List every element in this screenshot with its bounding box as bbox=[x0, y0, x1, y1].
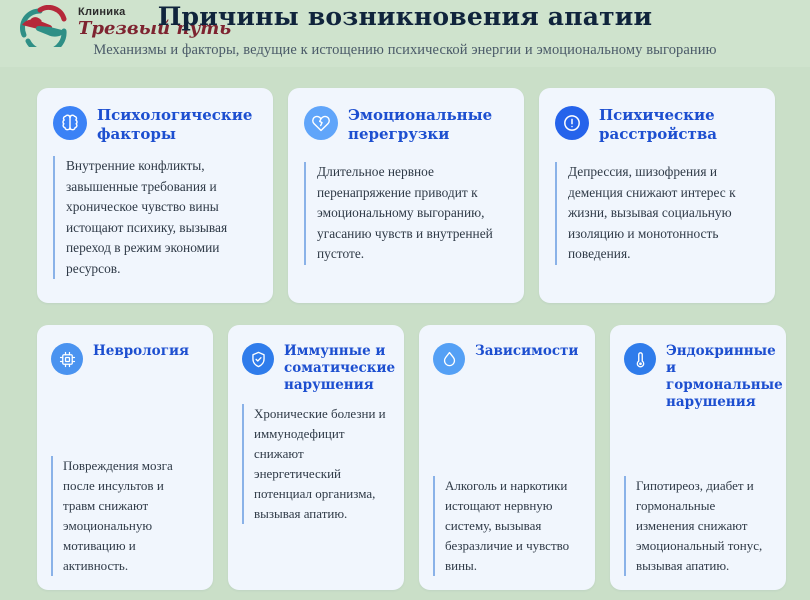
infographic-page: Клиника Трезвый путь Причины возникновен… bbox=[0, 0, 810, 600]
card-title: Эмоциональные перегрузки bbox=[348, 105, 508, 144]
card-endocrine-hormonal-disorders[interactable]: Эндокринные и гормональные нарушения Гип… bbox=[610, 325, 786, 590]
card-text: Повреждения мозга после инсультов и трав… bbox=[51, 456, 199, 576]
page-subtitle: Механизмы и факторы, ведущие к истощению… bbox=[0, 42, 810, 59]
card-row-2: Неврология Повреждения мозга после инсул… bbox=[37, 325, 790, 590]
card-text: Алкоголь и наркотики истощают нервную си… bbox=[433, 476, 581, 576]
card-neurology[interactable]: Неврология Повреждения мозга после инсул… bbox=[37, 325, 213, 590]
header-band: Клиника Трезвый путь Причины возникновен… bbox=[0, 0, 810, 67]
card-title: Зависимости bbox=[475, 342, 578, 360]
card-header: Психические расстройства bbox=[555, 105, 759, 144]
card-emotional-overload[interactable]: Эмоциональные перегрузки Длительное нерв… bbox=[288, 88, 524, 303]
card-text: Длительное нервное перенапряжение привод… bbox=[304, 162, 508, 265]
shield-check-icon bbox=[242, 343, 274, 375]
card-text: Хронические болезни и иммунодефицит сниж… bbox=[242, 404, 390, 524]
broken-heart-icon bbox=[304, 106, 338, 140]
card-header: Зависимости bbox=[433, 342, 581, 375]
card-row-1: Психологические факторы Внутренние конфл… bbox=[37, 88, 775, 303]
card-addictions[interactable]: Зависимости Алкоголь и наркотики истощаю… bbox=[419, 325, 595, 590]
card-title: Иммунные и соматические нарушения bbox=[284, 342, 395, 394]
card-psychological-factors[interactable]: Психологические факторы Внутренние конфл… bbox=[37, 88, 273, 303]
card-title: Неврология bbox=[93, 342, 189, 360]
card-header: Эмоциональные перегрузки bbox=[304, 105, 508, 144]
page-title: Причины возникновения апатии bbox=[0, 2, 810, 31]
card-text: Депрессия, шизофрения и деменция снижают… bbox=[555, 162, 759, 265]
thermometer-icon bbox=[624, 343, 656, 375]
card-header: Эндокринные и гормональные нарушения bbox=[624, 342, 772, 411]
card-header: Неврология bbox=[51, 342, 199, 375]
brain-icon bbox=[53, 106, 87, 140]
card-header: Иммунные и соматические нарушения bbox=[242, 342, 390, 394]
card-title: Психические расстройства bbox=[599, 105, 759, 144]
cpu-chip-icon bbox=[51, 343, 83, 375]
alert-circle-icon bbox=[555, 106, 589, 140]
card-title: Эндокринные и гормональные нарушения bbox=[666, 342, 783, 411]
card-text: Гипотиреоз, диабет и гормональные измене… bbox=[624, 476, 772, 576]
water-drop-icon bbox=[433, 343, 465, 375]
card-header: Психологические факторы bbox=[53, 105, 257, 144]
card-title: Психологические факторы bbox=[97, 105, 257, 144]
card-immune-somatic-disorders[interactable]: Иммунные и соматические нарушения Хронич… bbox=[228, 325, 404, 590]
card-mental-disorders[interactable]: Психические расстройства Депрессия, шизо… bbox=[539, 88, 775, 303]
card-text: Внутренние конфликты, завышенные требова… bbox=[53, 156, 257, 279]
